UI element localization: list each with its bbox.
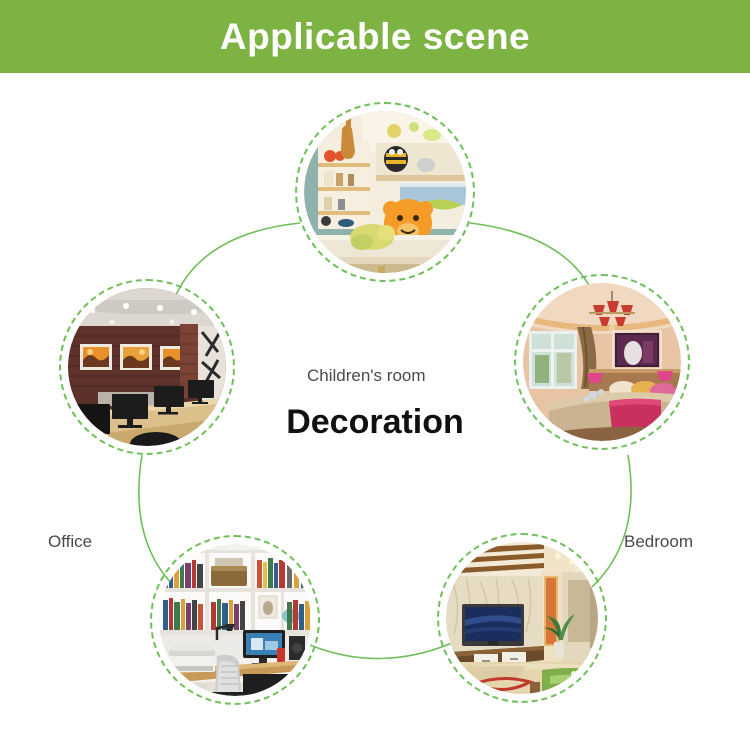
header-bar: Applicable scene	[0, 0, 750, 73]
scene-photo-bedroom	[523, 283, 681, 441]
scene-diagram: Decoration	[0, 73, 750, 750]
scene-photo-study	[159, 544, 311, 696]
page-title: Applicable scene	[220, 16, 530, 58]
infographic-root: Applicable scene Decoration	[0, 0, 750, 750]
scene-photo-childrens-room	[304, 111, 466, 273]
scene-node-living-room[interactable]	[437, 533, 607, 703]
scene-node-bedroom[interactable]	[514, 274, 690, 450]
scene-photo-office	[68, 288, 226, 446]
scene-caption-bedroom: Bedroom	[624, 532, 693, 552]
scene-caption-office: Office	[48, 532, 92, 552]
scene-node-office[interactable]	[59, 279, 235, 455]
scene-node-study[interactable]	[150, 535, 320, 705]
scene-photo-living-room	[446, 542, 598, 694]
connector-study-living	[310, 643, 452, 659]
scene-caption-childrens-room: Children's room	[307, 366, 426, 386]
scene-node-childrens-room[interactable]	[295, 102, 475, 282]
